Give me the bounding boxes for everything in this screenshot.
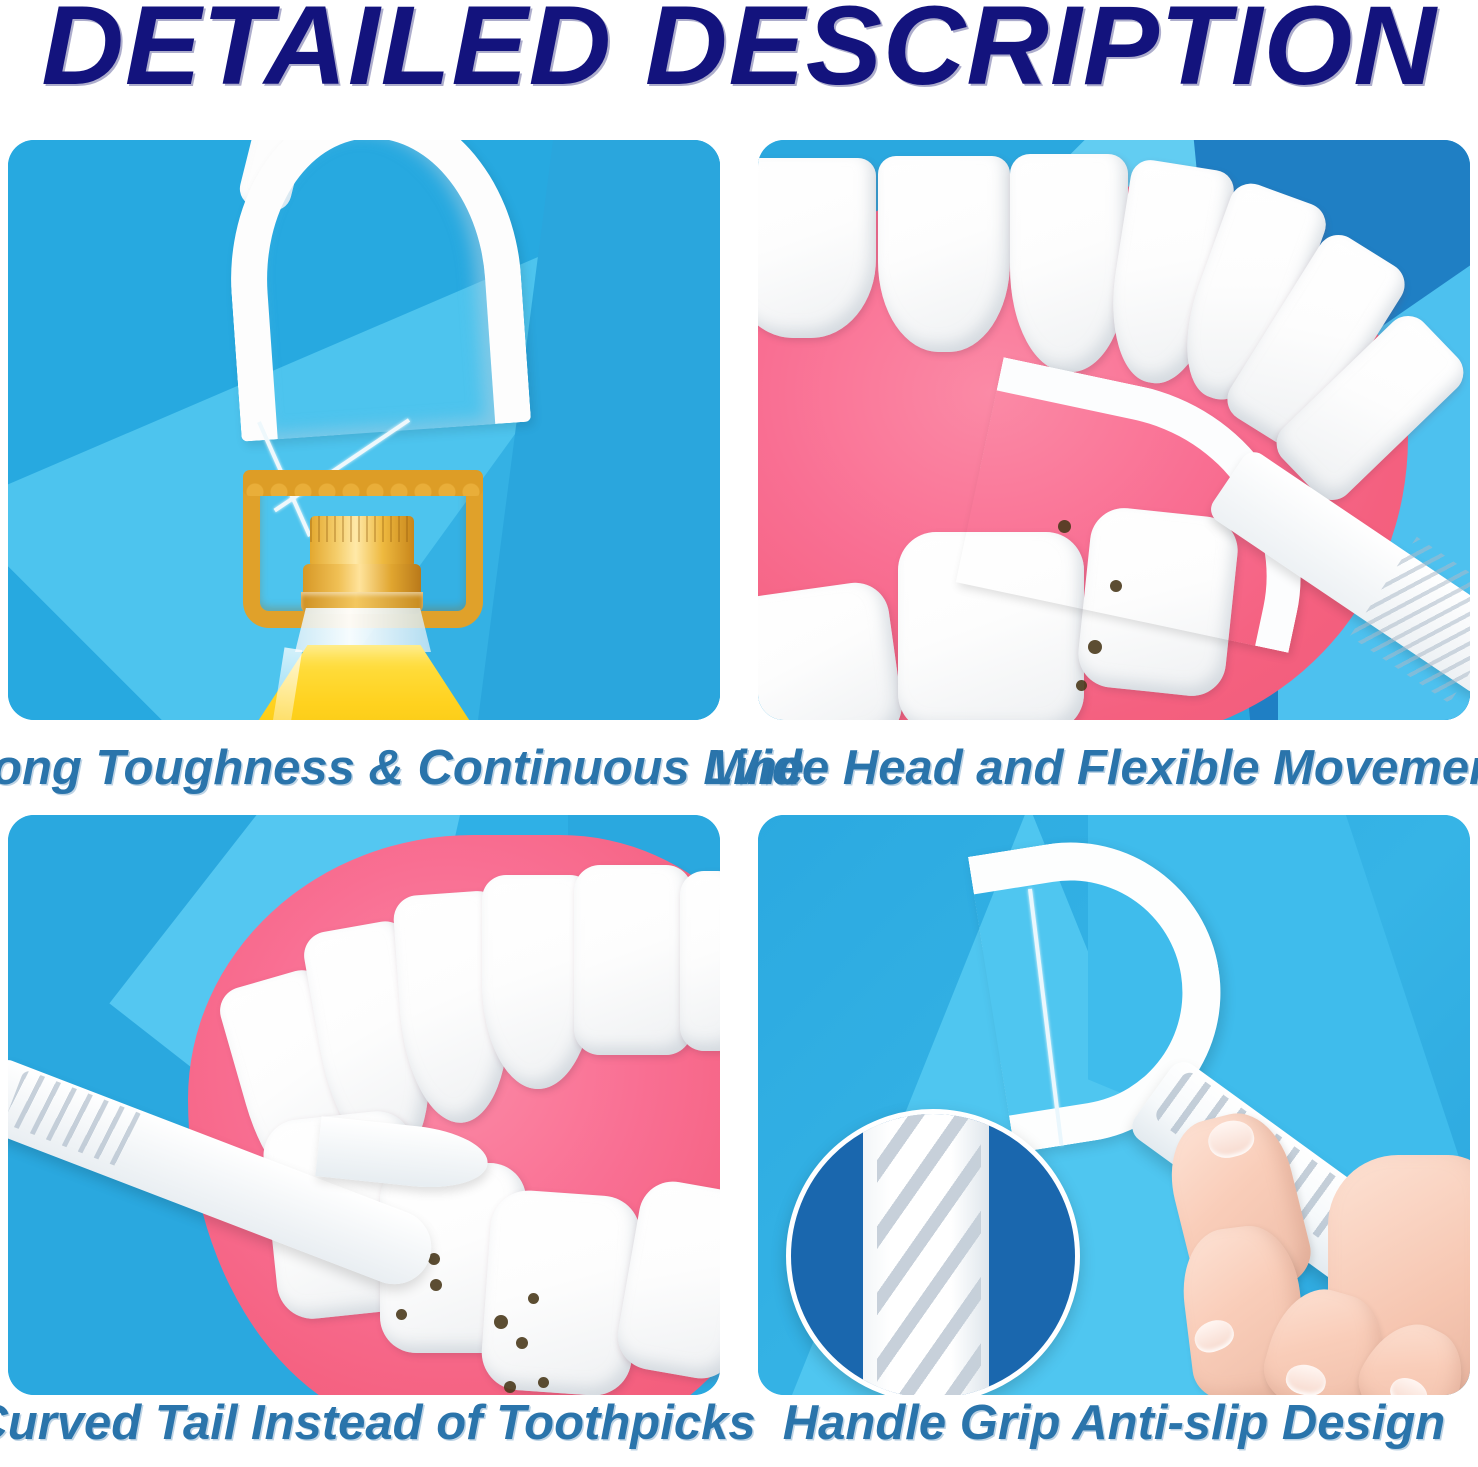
page-title: DETAILED DESCRIPTION	[41, 0, 1437, 110]
tooth	[1010, 154, 1128, 372]
panel-strong-toughness[interactable]	[8, 140, 720, 720]
page-title-bar: DETAILED DESCRIPTION	[0, 0, 1478, 104]
bottle-body-oil	[223, 645, 505, 720]
panel-grid: Strong Toughness & Continuous Line Wide …	[8, 140, 1470, 1460]
bottle-cap-ribs	[310, 516, 414, 542]
debris-spot	[1076, 680, 1087, 691]
panel-wide-head[interactable]	[758, 140, 1470, 720]
hand-holding-pick	[1178, 1115, 1470, 1395]
anti-slip-ribs-closeup	[877, 1109, 981, 1395]
debris-spot	[1088, 640, 1102, 654]
panel-cell-4	[758, 815, 1470, 1395]
tooth	[878, 156, 1010, 352]
magnifier-circle-inset	[786, 1109, 1080, 1395]
tooth	[574, 865, 692, 1055]
debris-spot	[494, 1315, 508, 1329]
panel-curved-tail[interactable]	[8, 815, 720, 1395]
panel-handle-grip[interactable]	[758, 815, 1470, 1395]
caption-panel-2: Wide Head and Flexible Movement	[758, 720, 1470, 815]
caption-panel-3: Curved Tail Instead of Toothpicks	[8, 1395, 720, 1462]
caption-panel-4: Handle Grip Anti-slip Design	[758, 1395, 1470, 1462]
infographic-page: DETAILED DESCRIPTION	[0, 0, 1478, 1467]
debris-spot	[538, 1377, 549, 1388]
debris-spot	[528, 1293, 539, 1304]
tooth	[680, 871, 720, 1051]
panel-cell-3	[8, 815, 720, 1395]
debris-spot	[504, 1381, 516, 1393]
tooth	[758, 158, 876, 338]
oil-bottle	[183, 440, 543, 720]
bottle-handle-top-ridge	[243, 470, 483, 496]
tooth-molar	[479, 1188, 643, 1395]
caption-panel-1: Strong Toughness & Continuous Line	[8, 720, 720, 815]
tooth-molar	[758, 578, 906, 720]
debris-spot	[396, 1309, 407, 1320]
debris-spot	[430, 1279, 442, 1291]
debris-spot	[516, 1337, 528, 1349]
panel-cell-1	[8, 140, 720, 720]
floss-pick-fork-icon	[219, 140, 531, 442]
panel-cell-2	[758, 140, 1470, 720]
